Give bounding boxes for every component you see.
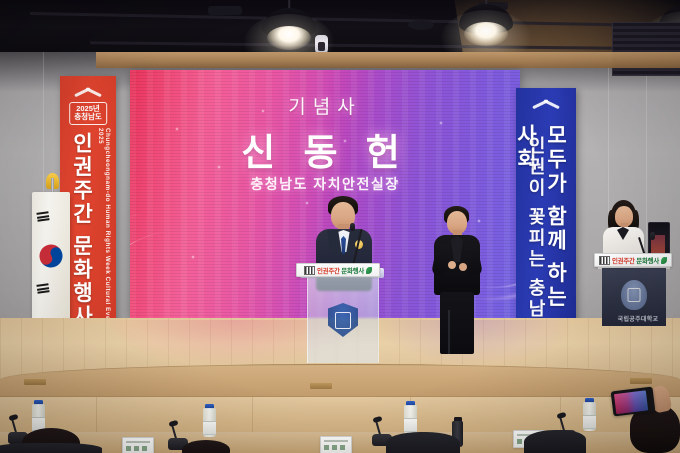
screen-sparkle [440, 122, 442, 124]
stage-photograph: 기념사 신 동 헌 충청남도 자치안전실장 2025년 충청남도 인권주간 문화… [0, 0, 680, 453]
trigram-gam [36, 283, 49, 294]
main-podium-sign: 인권주간 문화행사 [296, 263, 380, 277]
podium-emblem-icon [328, 303, 358, 337]
sign-leaf-icon [366, 267, 372, 274]
sign-barcode-mark-icon [599, 256, 610, 265]
bottle-label [583, 415, 596, 429]
main-podium-sign-red: 인권주간 [317, 268, 340, 275]
stage-floor-plate [310, 383, 332, 389]
screen-sparkle [176, 128, 178, 130]
ceiling-speaker [208, 6, 242, 15]
sign-language-interpreter-person [432, 206, 482, 356]
main-podium [300, 268, 384, 370]
main-podium-sign-text: 인권주간 문화행사 [317, 266, 364, 275]
interpreter-trousers [440, 292, 474, 354]
smartphone-camera [611, 387, 656, 417]
bottle-label [203, 421, 216, 435]
screen-sparkle [344, 140, 346, 142]
screen-sparkle [262, 110, 264, 112]
bottle-label [404, 418, 417, 432]
sign-leaf-icon [661, 257, 667, 264]
chevron-up-icon [73, 83, 103, 94]
attendee-shoulders [386, 432, 460, 453]
interpreter-hand-left [448, 261, 456, 269]
screen-sparkle [306, 202, 308, 204]
mc-podium-body: 국립공주대학교 [602, 268, 666, 326]
mc-podium-sign-text: 인권주간 문화행사 [612, 256, 659, 265]
banner-left-year: 2025년 충청남도 [69, 102, 107, 125]
main-podium-sign-green: 문화행사 [341, 268, 364, 275]
bottle-body [203, 408, 216, 437]
desk-nameplate [320, 436, 352, 453]
desk-nameplate [122, 437, 154, 453]
flag-cloth-taegukgi [32, 192, 70, 320]
attendee-shoulders [0, 443, 102, 453]
banner-right-line2: 인권이 꽃피는 충남 [523, 136, 549, 320]
stage-floor-plate [630, 378, 652, 384]
banner-right-slogan: 모두가 함께 하는 사회 인권이 꽃피는 충남 [516, 88, 576, 338]
mc-podium-sign: 인권주간 문화행사 [594, 253, 672, 267]
chevron-up-icon [531, 95, 561, 106]
bottle-body [404, 405, 417, 434]
wall-wood-trim [96, 52, 680, 68]
taeguk-symbol [35, 240, 67, 272]
ceiling-dome-speaker [408, 20, 434, 30]
mc-podium: 국립공주대학교 [598, 262, 670, 326]
attendee-head [182, 440, 230, 453]
sign-barcode-mark-icon [304, 266, 315, 275]
screen-sparkle [218, 166, 220, 168]
mc-podium-sign-green: 문화행사 [636, 258, 659, 265]
pendant-bulb [464, 22, 508, 46]
attendee-shoulders [524, 430, 586, 453]
banner-left-english-text: Chungcheongnam-do Human Rights Week Cult… [97, 128, 111, 338]
screen-sparkle [396, 182, 398, 184]
banner-left-year-line2: 충청남도 [74, 113, 102, 121]
interpreter-hand-right [459, 263, 467, 271]
interpreter-trouser-seam [448, 310, 450, 354]
mc-podium-sign-red: 인권주간 [612, 258, 635, 265]
stage-floor-plate [24, 379, 46, 385]
screen-sparkle [192, 256, 194, 258]
trigram-geon [36, 211, 49, 222]
mc-podium-university-text: 국립공주대학교 [602, 314, 674, 323]
smartphone-screen [614, 390, 648, 414]
mc-podium-emblem-icon [621, 280, 647, 310]
bottle-body [583, 402, 596, 431]
pendant-bulb [267, 26, 311, 50]
microphone-capsule [350, 223, 355, 231]
microphone-capsule [650, 232, 655, 240]
main-podium-body [307, 277, 379, 363]
